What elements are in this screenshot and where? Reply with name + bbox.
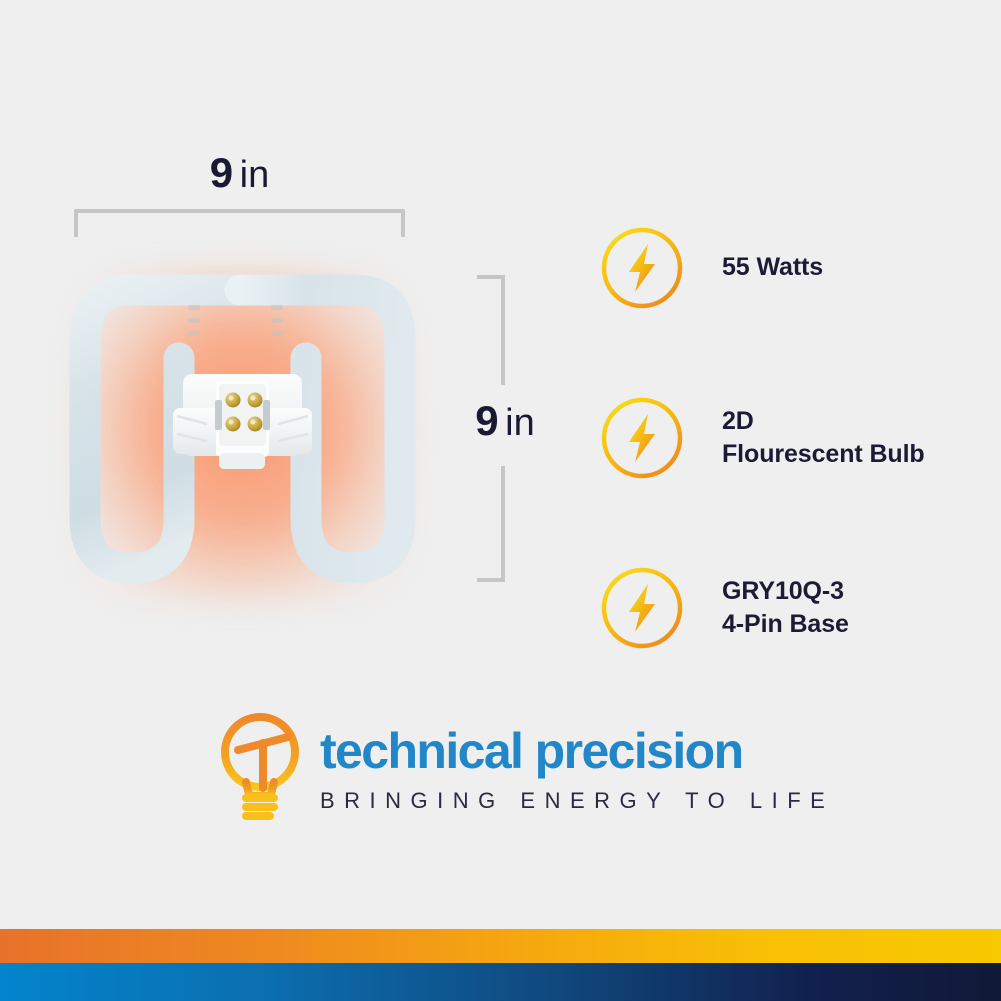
feature-line-2: 4-Pin Base (722, 608, 849, 642)
feature-item-type: 2D Flourescent Bulb (598, 353, 998, 523)
feature-item-watts: 55 Watts (598, 183, 998, 353)
infographic-canvas: 9in 9in (0, 0, 1001, 1001)
width-dimension-bracket (74, 209, 405, 237)
brand-logo: technical precision BRINGING ENERGY TO L… (212, 706, 834, 824)
height-dimension-label: 9in (440, 400, 570, 442)
bulb-illustration (55, 248, 430, 623)
width-value: 9 (210, 149, 233, 196)
brand-name: technical precision (320, 726, 834, 776)
height-dimension-bracket-upper (477, 275, 505, 385)
height-dimension-bracket-lower (477, 466, 505, 582)
feature-line-1: 55 Watts (722, 253, 823, 281)
feature-item-base: GRY10Q-3 4-Pin Base (598, 523, 998, 693)
lightning-bolt-icon (598, 394, 686, 482)
logo-text: technical precision BRINGING ENERGY TO L… (320, 706, 834, 812)
product-image (55, 248, 430, 623)
feature-label-watts: 55 Watts (722, 251, 823, 285)
width-unit: in (240, 154, 270, 196)
brand-tagline: BRINGING ENERGY TO LIFE (320, 790, 834, 812)
lightbulb-t-icon (212, 706, 308, 824)
lightning-bolt-icon (598, 224, 686, 312)
height-unit: in (505, 402, 535, 444)
width-dimension-label: 9in (74, 152, 405, 194)
feature-label-base: GRY10Q-3 4-Pin Base (722, 575, 849, 642)
orange-bar (0, 929, 1001, 963)
lightning-bolt-icon (598, 564, 686, 652)
feature-line-1: GRY10Q-3 (722, 575, 849, 609)
feature-list: 55 Watts 2D (598, 183, 998, 693)
electrode-bands (188, 305, 283, 336)
bulb-base-housing (173, 374, 312, 469)
feature-label-type: 2D Flourescent Bulb (722, 405, 925, 472)
feature-line-2: Flourescent Bulb (722, 438, 925, 472)
height-value: 9 (475, 397, 498, 444)
feature-line-1: 2D (722, 405, 925, 439)
blue-bar (0, 963, 1001, 1001)
